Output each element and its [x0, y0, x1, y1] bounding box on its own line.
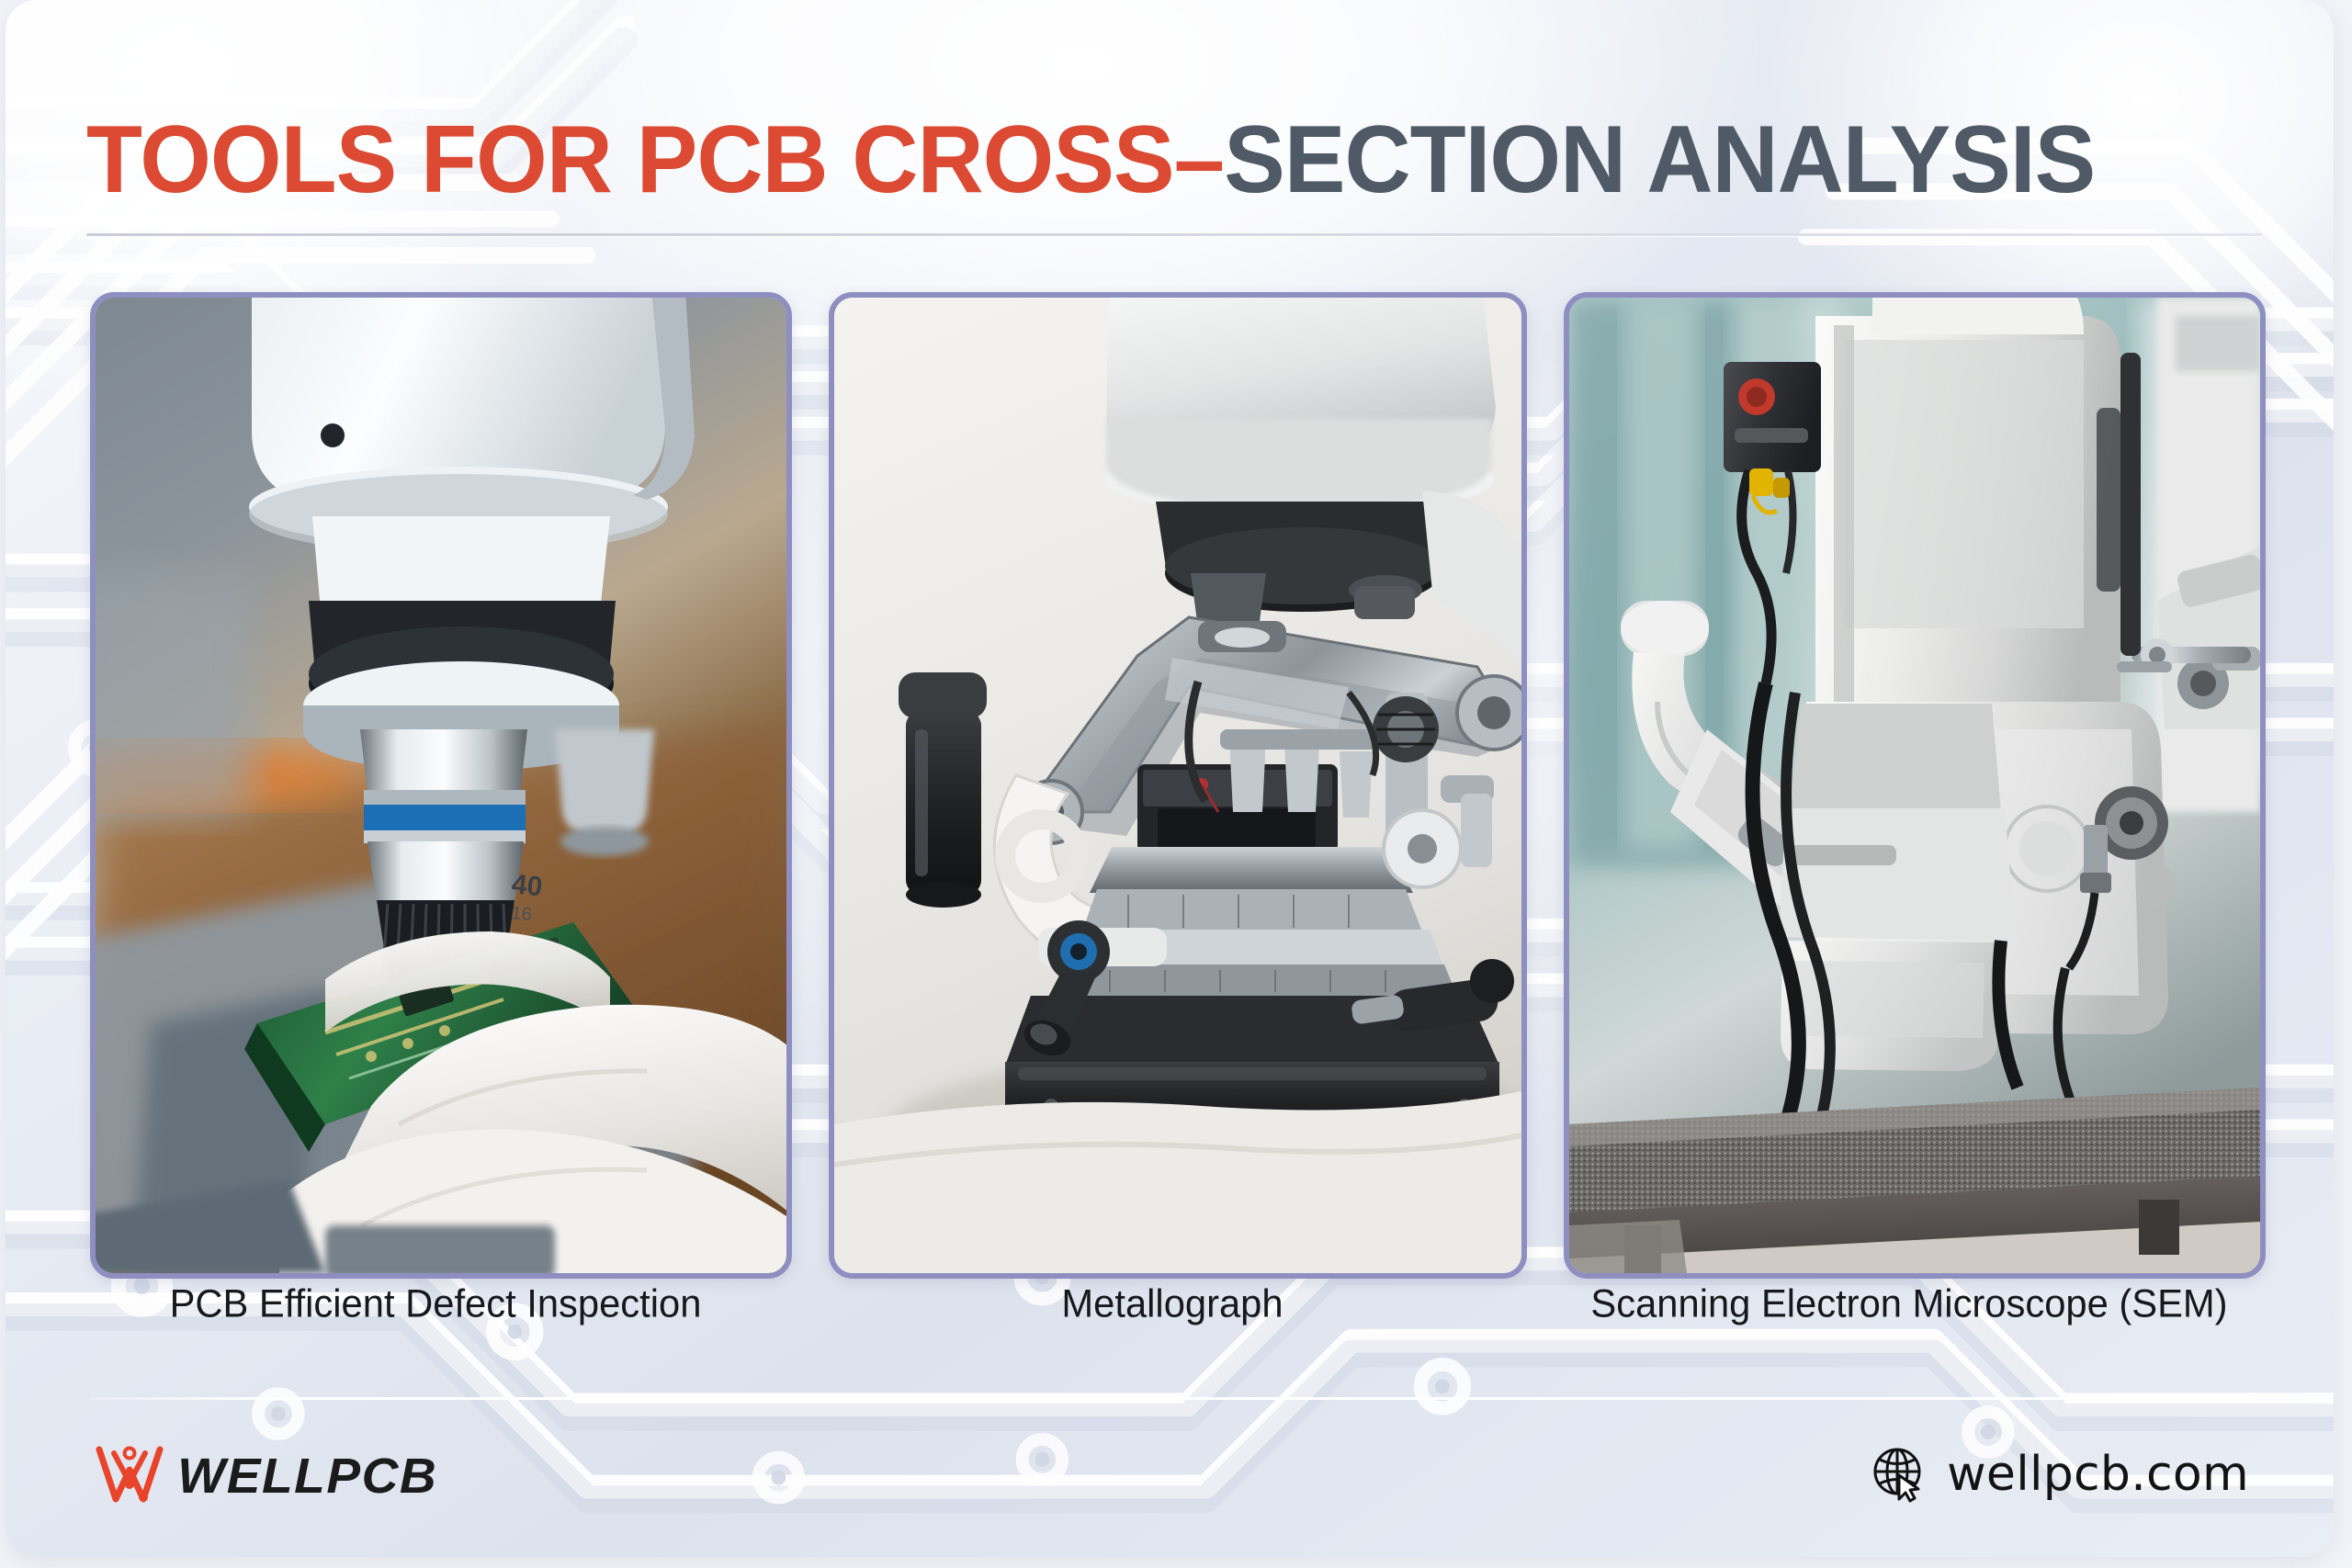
- caption-card-1: PCB Efficient Defect Inspection: [100, 1282, 770, 1327]
- caption-card-3: Scanning Electron Microscope (SEM): [1574, 1282, 2244, 1327]
- image-card-pcb-inspection[interactable]: 40 16: [90, 292, 792, 1279]
- website-link[interactable]: wellpcb.com: [1871, 1446, 2249, 1503]
- website-url-text: wellpcb.com: [1947, 1447, 2249, 1502]
- wellpcb-logo[interactable]: WELLPCB: [94, 1442, 435, 1510]
- poster-root: TOOLS FOR PCB CROSS–SECTION ANALYSIS: [0, 0, 2352, 1568]
- photo-metallograph: [834, 298, 1521, 1273]
- photo-sem: [1569, 298, 2260, 1273]
- poster-frame: TOOLS FOR PCB CROSS–SECTION ANALYSIS: [6, 0, 2334, 1557]
- image-card-metallograph[interactable]: [829, 292, 1527, 1279]
- image-card-sem[interactable]: [1564, 292, 2266, 1279]
- wellpcb-w-mark: [94, 1442, 165, 1510]
- photo-pcb-inspection: 40 16: [96, 298, 786, 1273]
- svg-text:40: 40: [510, 869, 544, 902]
- caption-card-2: Metallograph: [839, 1282, 1506, 1327]
- footer-divider: [90, 1397, 2255, 1400]
- wellpcb-logo-text: WELLPCB: [177, 1448, 437, 1505]
- globe-cursor-icon: [1871, 1446, 1928, 1503]
- svg-text:16: 16: [510, 903, 532, 925]
